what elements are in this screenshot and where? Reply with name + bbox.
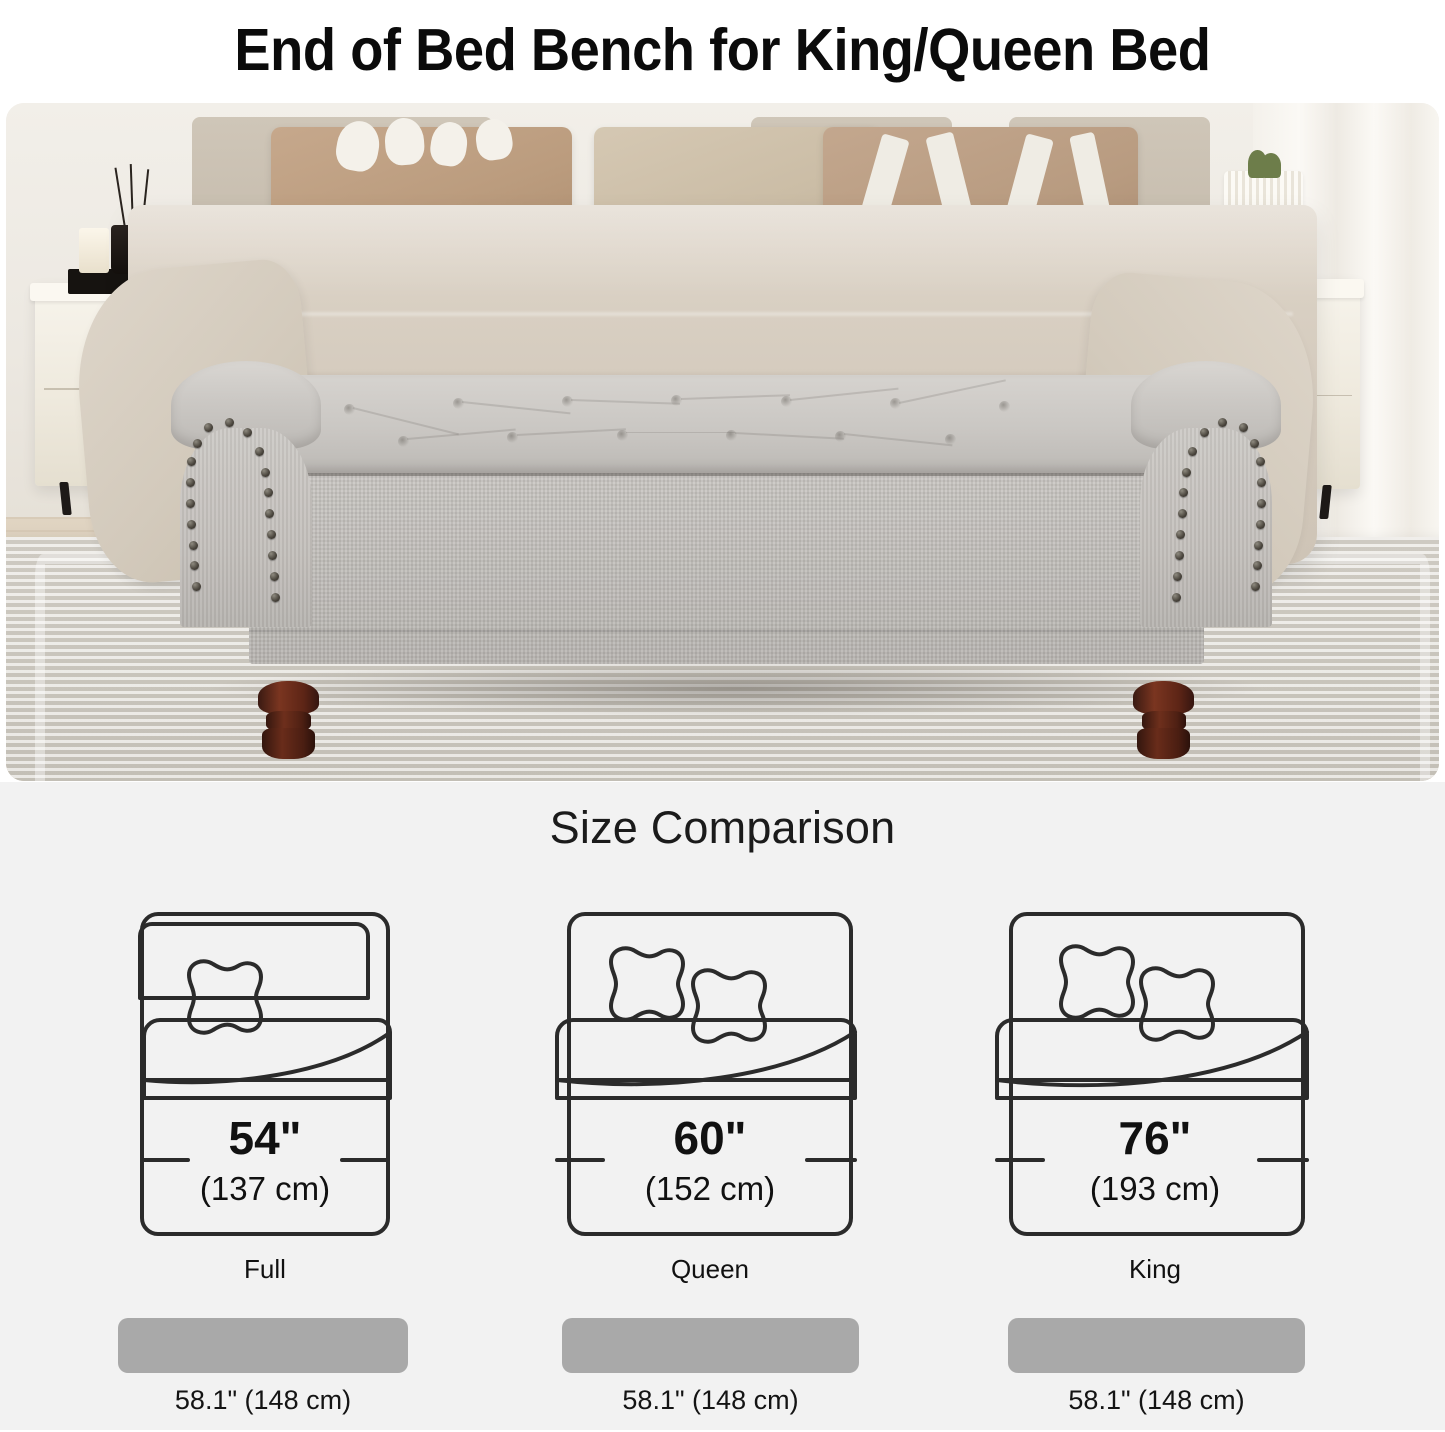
bed-diagram-king: 76" (193 cm) King [985,902,1325,1247]
bed-diagram-queen: 60" (152 cm) Queen [545,902,875,1247]
tuft-seam [735,432,844,439]
seat-welt [271,473,1182,476]
pillow-pattern [428,120,470,168]
queen-width-inches: 60" [674,1112,747,1164]
king-width-inches: 76" [1119,1112,1192,1164]
queen-width-cm: (152 cm) [645,1170,775,1207]
nailhead-icon [1172,593,1181,602]
tuft-seam [626,432,735,434]
arm-panel [180,428,312,626]
bench-arm-right [1131,361,1281,622]
bed-label-king: King [985,1254,1325,1285]
nailhead-icon [270,572,279,581]
queen-bed-outline: 60" (152 cm) [545,902,875,1247]
pillow-pattern [333,118,383,174]
bench-width-bar-full [118,1318,408,1373]
bed-label-full: Full [120,1254,410,1285]
full-bed-outline: 54" (137 cm) [120,902,410,1247]
nailhead-icon [186,499,195,508]
bench-arm-left [171,361,321,622]
full-width-inches: 54" [229,1112,302,1164]
nailhead-icon [225,418,234,427]
tuft-seam [407,428,516,439]
tuft-button [890,398,901,409]
bench-tufted-seat [271,375,1182,474]
page-title: End of Bed Bench for King/Queen Bed [234,16,1210,84]
leg-segment [1133,681,1194,714]
leg-segment [262,728,314,759]
nailhead-icon [189,541,198,550]
full-width-cm: (137 cm) [200,1170,330,1207]
bench-width-label-queen: 58.1" (148 cm) [542,1385,879,1416]
bench-width-bar-queen [562,1318,859,1373]
bench-seam [249,630,1204,632]
tuft-seam [462,401,571,414]
nailhead-icon [204,423,213,432]
tuft-seam [899,380,1006,404]
tuft-button [999,401,1010,412]
nailhead-icon [1256,457,1265,466]
tuft-seam [844,433,953,446]
nailhead-icon [267,530,276,539]
bench-width-label-full: 58.1" (148 cm) [98,1385,428,1416]
bed-diagram-full: 54" (137 cm) Full [120,902,410,1247]
tuft-seam [517,428,626,435]
tuft-seam [680,395,789,400]
leg-segment [1137,728,1189,759]
bench-width-bar-king [1008,1318,1305,1373]
tuft-seam [790,388,899,401]
bed-label-queen: Queen [545,1254,875,1285]
nailhead-icon [1256,520,1265,529]
nailhead-icon [1182,468,1191,477]
nailhead-icon [187,520,196,529]
bedroom-scene [6,103,1439,781]
nailhead-icon [261,468,270,477]
nailhead-icon [255,447,264,456]
nailhead-icon [271,593,280,602]
tuft-seam [352,407,458,435]
bench-width-label-king: 58.1" (148 cm) [988,1385,1325,1416]
greenery [1248,150,1267,177]
candle [79,228,109,273]
page-header: End of Bed Bench for King/Queen Bed [0,0,1445,100]
bench-leg-left [254,681,323,759]
nailhead-icon [1250,439,1259,448]
arm-panel [1140,428,1272,626]
nailhead-icon [1254,541,1263,550]
nailhead-icon [1175,551,1184,560]
tuft-seam [571,399,680,404]
size-comparison-title: Size Comparison [0,802,1445,854]
king-width-cm: (193 cm) [1090,1170,1220,1207]
bench-shadow [204,660,1270,716]
bench-leg-right [1129,681,1198,759]
storage-bench [171,361,1282,714]
hero-product-photo [6,103,1439,781]
leg-segment [258,681,319,714]
king-bed-outline: 76" (193 cm) [985,902,1325,1247]
nailhead-icon [186,478,195,487]
